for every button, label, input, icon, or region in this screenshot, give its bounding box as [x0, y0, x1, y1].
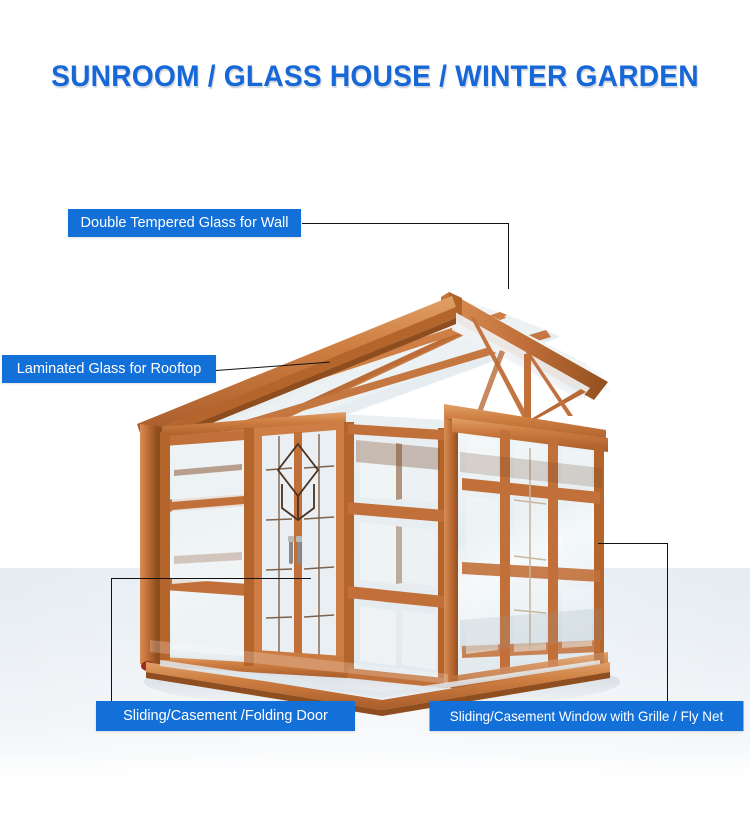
callout-label-door: Sliding/Casement /Folding Door	[96, 701, 355, 731]
leader-door-horizontal	[111, 578, 311, 579]
leader-wall-vertical	[508, 223, 509, 289]
product-image-canvas: SUNROOM / GLASS HOUSE / WINTER GARDEN Do…	[0, 0, 750, 819]
page-title: SUNROOM / GLASS HOUSE / WINTER GARDEN	[23, 60, 728, 94]
leader-window-horizontal	[598, 543, 668, 544]
leader-door-vertical	[111, 578, 112, 701]
leader-wall-horizontal	[302, 223, 509, 224]
leader-window-vertical	[667, 543, 668, 701]
sunroom-illustration	[0, 0, 750, 819]
callout-label-wall: Double Tempered Glass for Wall	[68, 209, 301, 237]
callout-label-rooftop: Laminated Glass for Rooftop	[2, 355, 216, 383]
callout-label-window: Sliding/Casement Window with Grille / Fl…	[430, 701, 744, 731]
